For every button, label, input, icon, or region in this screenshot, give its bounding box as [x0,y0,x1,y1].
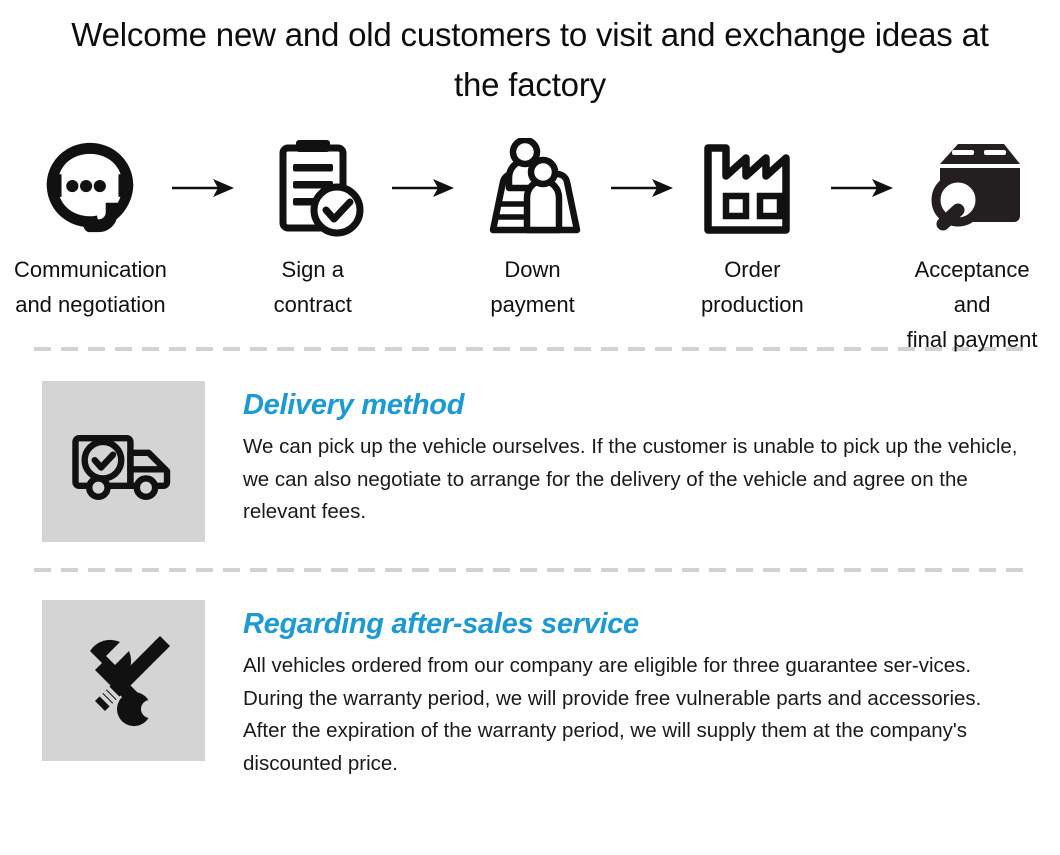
info-body: Delivery method We can pick up the vehic… [243,381,1024,529]
info-section-after-sales: Regarding after-sales service All vehicl… [0,572,1060,780]
process-step-label: Order production [701,252,804,322]
process-step-sign-contract: Sign a contract [239,132,387,322]
arrow-right-icon [826,132,898,244]
section-text-after-sales: All vehicles ordered from our company ar… [243,650,1024,780]
process-steps: Communication and negotiation [0,132,1060,347]
arrow-right-icon [167,132,239,244]
section-text-delivery: We can pick up the vehicle ourselves. If… [243,431,1024,529]
section-heading-after-sales: Regarding after-sales service [243,604,1024,644]
page-title: Welcome new and old customers to visit a… [65,0,995,110]
wrench-screwdriver-icon [42,600,205,761]
process-step-label: Acceptance and final payment [898,252,1046,357]
headset-icon [36,132,144,244]
process-step-order-production: Order production [678,132,826,322]
factory-icon [700,132,804,244]
delivery-truck-check-icon [42,381,205,542]
package-inspect-icon [918,132,1026,244]
process-step-communication: Communication and negotiation [14,132,167,322]
arrow-right-icon [606,132,678,244]
process-step-label: Sign a contract [274,252,352,322]
info-body: Regarding after-sales service All vehicl… [243,600,1024,780]
section-heading-delivery: Delivery method [243,385,1024,425]
clipboard-check-icon [260,132,366,244]
process-step-down-payment: Down payment [459,132,607,322]
arrow-right-icon [387,132,459,244]
process-step-label: Down payment [490,252,574,322]
people-group-icon [479,132,587,244]
process-step-acceptance: Acceptance and final payment [898,132,1046,357]
info-section-delivery: Delivery method We can pick up the vehic… [0,351,1060,542]
process-step-label: Communication and negotiation [14,252,167,322]
